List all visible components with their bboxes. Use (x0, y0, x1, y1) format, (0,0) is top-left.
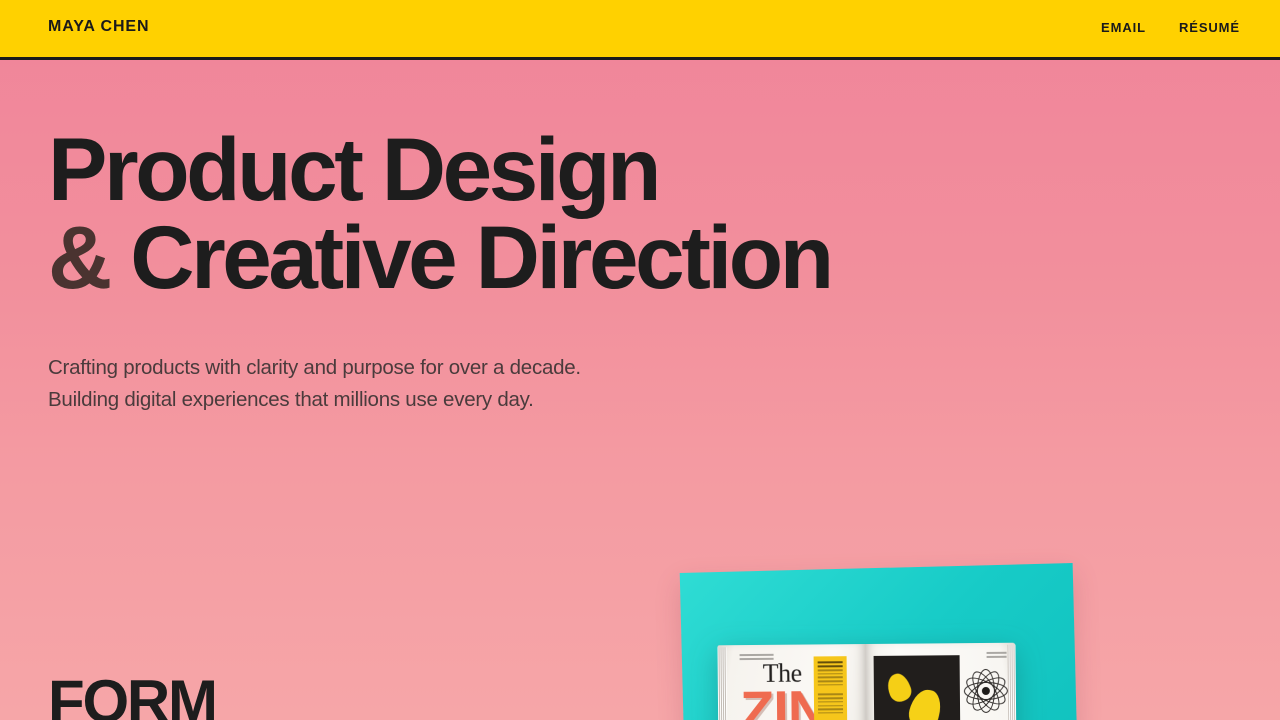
brand-name[interactable]: MAYA CHEN (48, 19, 149, 35)
subtitle-line-2: Building digital experiences that millio… (48, 388, 534, 411)
portfolio-page: MAYA CHEN EMAIL RÉSUMÉ Product Design & … (0, 0, 1280, 720)
nav-link-email[interactable]: EMAIL (1101, 21, 1146, 34)
headline-ampersand: & (48, 207, 109, 307)
zine-black-panel (874, 655, 961, 720)
page-title: Product Design & Creative Direction (48, 126, 831, 301)
magazine-right-page (865, 643, 1016, 720)
page-edge-left (717, 647, 727, 720)
zine-yellow-text-column (814, 656, 848, 720)
hero-subtitle: Crafting products with clarity and purpo… (48, 352, 581, 416)
magazine-left-page: The ZIN (717, 644, 866, 720)
page-edge-right (1007, 645, 1016, 720)
atom-diagram-icon (964, 669, 1008, 713)
left-page-meta-lines (740, 654, 774, 656)
headline-line-2-spacer (109, 207, 130, 307)
showcase-image[interactable]: The ZIN (660, 548, 1130, 720)
section-heading-form: FORM (48, 672, 216, 720)
headline-line-1: Product Design (48, 119, 658, 219)
nav-link-resume[interactable]: RÉSUMÉ (1179, 21, 1240, 34)
open-magazine: The ZIN (717, 643, 1016, 720)
pear-shape-small-icon (883, 671, 914, 705)
headline-line-2: Creative Direction (130, 207, 831, 307)
subtitle-line-1: Crafting products with clarity and purpo… (48, 356, 581, 379)
site-header: MAYA CHEN EMAIL RÉSUMÉ (0, 0, 1280, 60)
primary-nav: EMAIL RÉSUMÉ (1101, 21, 1240, 34)
right-page-meta-lines (987, 652, 1007, 654)
